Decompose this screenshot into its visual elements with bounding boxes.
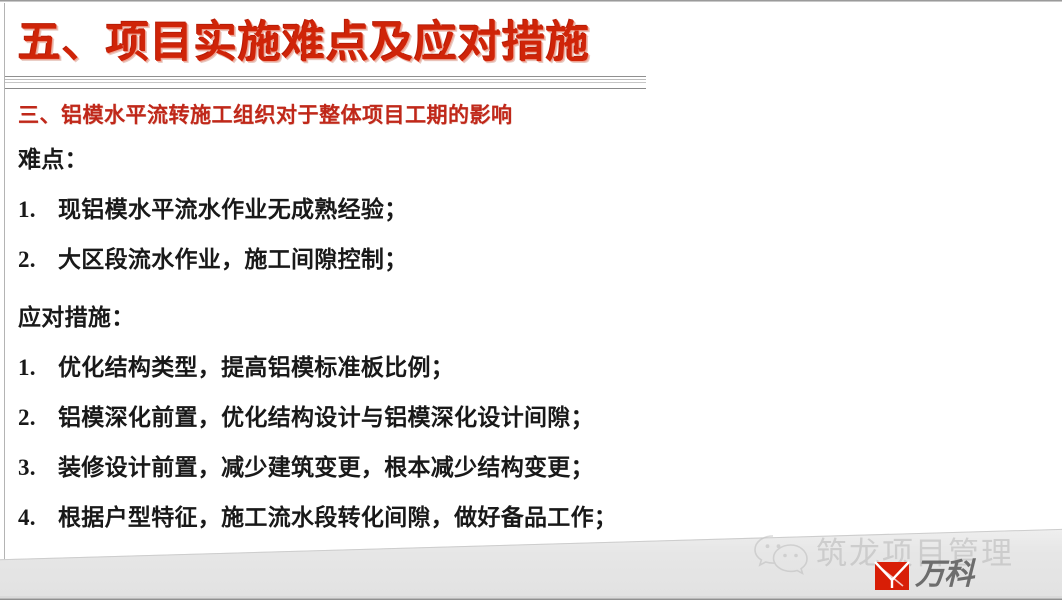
list-item: 1. 现铝模水平流水作业无成熟经验； [18,196,1028,224]
slide-top-border [0,0,1062,3]
list-item: 3. 装修设计前置，减少建筑变更，根本减少结构变更； [18,454,1028,482]
list-item-text: 优化结构类型，提高铝模标准板比例； [58,354,454,382]
slide-canvas: 五、项目实施难点及应对措施 三、铝模水平流转施工组织对于整体项目工期的影响 难点… [0,0,1062,600]
section-subtitle: 三、铝模水平流转施工组织对于整体项目工期的影响 [18,101,513,129]
slide-bottom-border [0,596,1062,600]
vanke-logo: 万科 [872,556,973,594]
list-item: 1. 优化结构类型，提高铝模标准板比例； [18,354,1028,382]
list-item-number: 1. [18,354,58,382]
title-divider [5,76,646,94]
measures-heading: 应对措施： [18,304,1028,332]
wechat-icon [752,532,814,576]
vanke-mark-icon [872,558,912,592]
list-item: 2. 大区段流水作业，施工间隙控制； [18,246,1028,274]
page-title: 五、项目实施难点及应对措施 [18,16,718,70]
vanke-wordmark: 万科 [915,558,973,592]
divider-line-3 [5,82,646,83]
list-item-number: 1. [18,196,58,224]
divider-line-4 [5,88,646,89]
difficulties-heading: 难点： [18,146,1028,174]
section-spacer [18,296,1028,304]
list-item-text: 现铝模水平流水作业无成熟经验； [58,196,408,224]
title-block: 五、项目实施难点及应对措施 [18,16,718,70]
list-item-number: 2. [18,246,58,274]
slide-body: 难点： 1. 现铝模水平流水作业无成熟经验； 2. 大区段流水作业，施工间隙控制… [18,146,1028,554]
list-item: 2. 铝模深化前置，优化结构设计与铝模深化设计间隙； [18,404,1028,432]
list-item-text: 根据户型特征，施工流水段转化间隙，做好备品工作； [58,504,617,532]
divider-line-2 [5,79,646,80]
list-item-number: 4. [18,504,58,532]
divider-line-1 [5,76,646,77]
list-item-text: 装修设计前置，减少建筑变更，根本减少结构变更； [58,454,594,482]
list-item-text: 铝模深化前置，优化结构设计与铝模深化设计间隙； [58,404,594,432]
list-item-number: 2. [18,404,58,432]
list-item-text: 大区段流水作业，施工间隙控制； [58,246,408,274]
list-item-number: 3. [18,454,58,482]
